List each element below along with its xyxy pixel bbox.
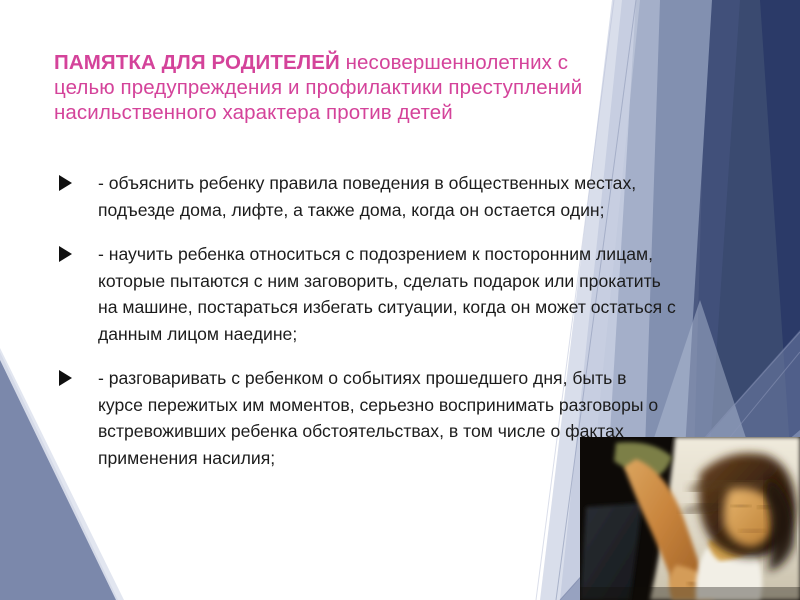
list-item-text: - объяснить ребенку правила поведения в … <box>98 170 676 223</box>
presentation-slide: ПАМЯТКА ДЛЯ РОДИТЕЛЕЙ несовершеннолетних… <box>0 0 800 600</box>
list-item: - научить ребенка относиться с подозрени… <box>56 241 676 347</box>
photo-adult-grabbing-child <box>580 437 800 600</box>
slide-title-emphasis: ПАМЯТКА ДЛЯ РОДИТЕЛЕЙ <box>54 51 340 74</box>
triangle-bullet-icon <box>59 175 72 191</box>
slide-title: ПАМЯТКА ДЛЯ РОДИТЕЛЕЙ несовершеннолетних… <box>54 50 614 125</box>
triangle-bullet-icon <box>59 370 72 386</box>
list-item-text: - научить ребенка относиться с подозрени… <box>98 241 676 347</box>
list-item: - объяснить ребенку правила поведения в … <box>56 170 676 223</box>
photo-vignette <box>580 587 800 600</box>
photo-image <box>580 437 800 600</box>
triangle-bullet-icon <box>59 246 72 262</box>
